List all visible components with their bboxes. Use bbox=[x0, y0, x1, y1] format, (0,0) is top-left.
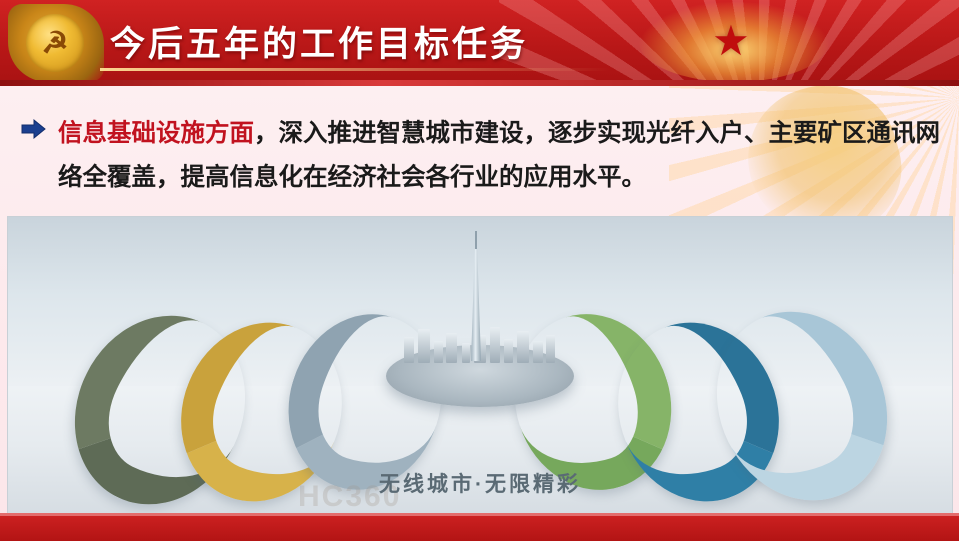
canton-tower-icon bbox=[463, 231, 489, 361]
slide: ★ ☭ 今后五年的工作目标任务 信息基础设施方面，深入推进智慧城市建设，逐步实现… bbox=[0, 0, 959, 541]
image-caption: 无线城市·无限精彩 bbox=[8, 468, 952, 498]
slide-body: 信息基础设施方面，深入推进智慧城市建设，逐步实现光纤入户、主要矿区通讯网络全覆盖… bbox=[0, 86, 959, 541]
body-paragraph: 信息基础设施方面，深入推进智慧城市建设，逐步实现光纤入户、主要矿区通讯网络全覆盖… bbox=[20, 112, 940, 200]
hammer-and-sickle-emblem-icon: ☭ bbox=[8, 4, 104, 82]
footer-highlight-line bbox=[0, 513, 959, 516]
five-pointed-star-icon: ★ bbox=[710, 20, 752, 62]
bullet-paragraph-row: 信息基础设施方面，深入推进智慧城市建设，逐步实现光纤入户、主要矿区通讯网络全覆盖… bbox=[20, 112, 940, 200]
wireless-city-image: HC360 无线城市·无限精彩 bbox=[7, 216, 953, 519]
arrow-right-bullet-icon bbox=[20, 118, 48, 140]
slide-header: ★ ☭ 今后五年的工作目标任务 bbox=[0, 0, 959, 86]
page-title: 今后五年的工作目标任务 bbox=[110, 16, 528, 67]
paragraph-highlight: 信息基础设施方面 bbox=[58, 120, 254, 147]
slide-footer bbox=[0, 513, 959, 541]
title-underline bbox=[100, 68, 610, 71]
